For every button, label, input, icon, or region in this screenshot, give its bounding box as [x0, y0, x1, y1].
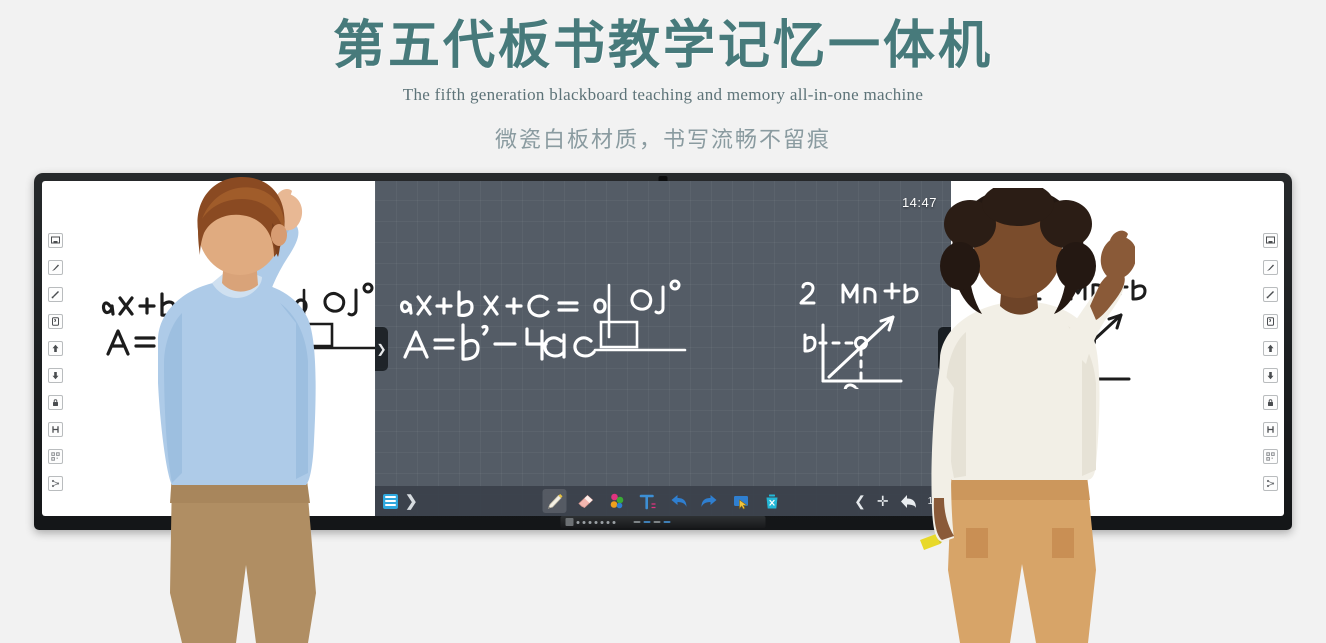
prev-page-button[interactable]: ❮	[854, 494, 866, 508]
eraser-tool[interactable]	[574, 489, 598, 513]
color-tool[interactable]	[605, 489, 629, 513]
pen-tool[interactable]	[543, 489, 567, 513]
board-bottom-toolbar[interactable]: ❯	[375, 486, 951, 516]
arrow-down-icon[interactable]	[48, 368, 63, 383]
page-subtitle-cn: 微瓷白板材质，书写流畅不留痕	[0, 122, 1326, 154]
screen-icon[interactable]	[48, 233, 63, 248]
left-panel-handle[interactable]: ❯	[375, 327, 388, 371]
share-icon[interactable]	[48, 476, 63, 491]
share-icon[interactable]	[1263, 476, 1278, 491]
person-left-teacher	[120, 173, 365, 643]
screen-icon[interactable]	[1263, 233, 1278, 248]
redo-tool[interactable]	[698, 489, 722, 513]
arrow-down-icon[interactable]	[1263, 368, 1278, 383]
pen-icon[interactable]	[1263, 260, 1278, 275]
page-subtitle-en: The fifth generation blackboard teaching…	[0, 85, 1326, 105]
hdmi-icon[interactable]	[1263, 422, 1278, 437]
delete-tool[interactable]	[760, 489, 784, 513]
marker-icon[interactable]	[48, 287, 63, 302]
board-handwriting-equations	[397, 277, 687, 369]
interactive-board[interactable]: 14:47 ❯	[375, 181, 951, 516]
undo-tool[interactable]	[667, 489, 691, 513]
board-handwriting-vector	[793, 277, 928, 389]
lock-icon[interactable]	[1263, 395, 1278, 410]
toolbar-left-group[interactable]: ❯	[375, 494, 418, 509]
side-toolbar-right[interactable]	[1263, 233, 1278, 491]
device-control-strip[interactable]	[561, 516, 766, 528]
qr-icon[interactable]	[48, 449, 63, 464]
page-icon[interactable]	[48, 314, 63, 329]
arrow-up-icon[interactable]	[48, 341, 63, 356]
list-icon[interactable]	[383, 494, 398, 509]
person-right-student	[910, 188, 1135, 643]
power-button[interactable]	[566, 518, 574, 526]
text-tool[interactable]	[636, 489, 660, 513]
arrow-up-icon[interactable]	[1263, 341, 1278, 356]
side-toolbar-left[interactable]	[48, 233, 63, 491]
add-page-button[interactable]: ✛	[877, 494, 889, 508]
select-tool[interactable]	[729, 489, 753, 513]
marker-icon[interactable]	[1263, 287, 1278, 302]
chevron-right-icon[interactable]: ❯	[405, 494, 418, 509]
page-icon[interactable]	[1263, 314, 1278, 329]
pen-icon[interactable]	[48, 260, 63, 275]
toolbar-tools-group[interactable]	[543, 489, 784, 513]
page-title: 第五代板书教学记忆一体机	[0, 18, 1326, 76]
lock-icon[interactable]	[48, 395, 63, 410]
hdmi-icon[interactable]	[48, 422, 63, 437]
qr-icon[interactable]	[1263, 449, 1278, 464]
page-header: 第五代板书教学记忆一体机 The fifth generation blackb…	[0, 0, 1326, 154]
